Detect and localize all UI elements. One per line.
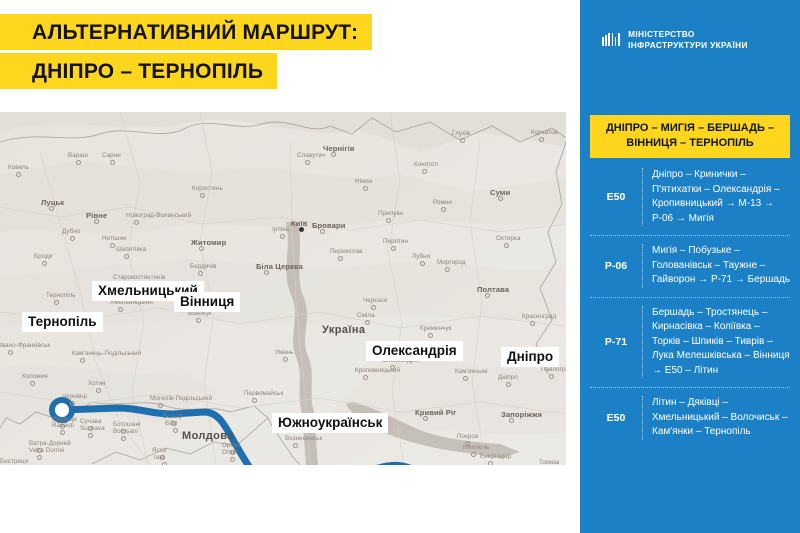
map-city-dot-icon [463, 376, 468, 381]
map-city-dot-icon [110, 243, 115, 248]
map-label: Orhei [222, 449, 238, 456]
map-label: Красноград [522, 313, 556, 320]
map-label: Покров [457, 433, 478, 440]
map-label: Вараш [68, 152, 88, 159]
map-city-dot-icon [485, 293, 490, 298]
map-city-dot-icon [549, 374, 554, 379]
route-code: E50 [590, 191, 642, 203]
map-label: Старокостянтинів [113, 274, 165, 281]
map-city-dot-icon [118, 307, 123, 312]
bars-logo-icon [602, 33, 621, 46]
map-city-dot-icon [88, 433, 93, 438]
map-city-dot-icon [264, 270, 269, 275]
map-city-dot-icon [305, 160, 310, 165]
map-country-label: Україна [322, 324, 365, 336]
map-label: Ботошані [113, 421, 141, 428]
map-label: Коломия [22, 373, 48, 380]
map-city-dot-icon [124, 254, 129, 259]
map-city-dot-icon [94, 219, 99, 224]
map-label: Чернівці [62, 393, 87, 400]
brand-line-2: ІНФРАСТРУКТУРИ УКРАЇНИ [628, 40, 748, 50]
map-city-dot-icon [162, 462, 167, 465]
map-city-dot-icon [509, 418, 514, 423]
map-label: Коростень [192, 185, 223, 192]
route-description: Дніпро – Кринички – П'ятихатки – Олексан… [642, 168, 790, 226]
map-label: Миргород [437, 259, 466, 266]
route-legend-table: E50Дніпро – Кринички – П'ятихатки – Олек… [590, 160, 790, 449]
map-label: Курчатов [531, 129, 558, 136]
map-city-dot-icon [422, 169, 427, 174]
map-label: Кривий Ріг [415, 408, 456, 417]
map-label: Могилів-Подільський [150, 395, 212, 402]
route-code: E50 [590, 412, 642, 424]
map-city-dot-icon [428, 333, 433, 338]
map-city-dot-icon [293, 443, 298, 448]
route-description: Літин – Дяківці – Хмельницький – Волочис… [642, 396, 790, 440]
map-label: Ватра-Дорней [29, 440, 71, 447]
map-city-dot-icon [299, 227, 304, 232]
map-city-dot-icon [283, 357, 288, 362]
map-label: Біла Церква [256, 262, 303, 271]
map-label: Кам'янське [455, 368, 488, 375]
map-city-dot-icon [420, 261, 425, 266]
map-city-dot-icon [390, 365, 395, 370]
map-label: Бєльці [163, 413, 183, 420]
map-city-dot-icon [76, 160, 81, 165]
map-city-dot-icon [230, 457, 235, 462]
map-label: Ковель [8, 164, 29, 171]
map-label: Лубни [412, 253, 430, 260]
map-route-city-label[interactable]: Вінниця [174, 292, 240, 312]
map-label: Енергодар [480, 453, 511, 460]
map-label: Прилуки [378, 210, 403, 217]
ministry-logo-text: МІНІСТЕРСТВО ІНФРАСТРУКТУРИ УКРАЇНИ [628, 29, 748, 50]
map-city-dot-icon [371, 305, 376, 310]
map-city-dot-icon [121, 436, 126, 441]
map-route-city-label[interactable]: Олександрія [366, 341, 463, 361]
map-label: Павлоград [541, 366, 566, 373]
map-label: Полтава [477, 285, 509, 294]
map-city-dot-icon [196, 318, 201, 323]
map-city-dot-icon [110, 160, 115, 165]
map-city-dot-icon [198, 271, 203, 276]
map-city-dot-icon [539, 137, 544, 142]
map-label: Глухів [452, 130, 470, 137]
map-label: Ромни [433, 199, 452, 206]
map-label: Пирятин [383, 238, 408, 245]
brand-line-1: МІНІСТЕРСТВО [628, 29, 695, 39]
map-city-dot-icon [441, 207, 446, 212]
map-label: Rădăuți [52, 422, 74, 429]
map-label: Сарни [102, 152, 121, 159]
map-label: Bălți [165, 420, 178, 427]
map-city-dot-icon [252, 398, 257, 403]
map-label: Житомир [191, 238, 226, 247]
map-label: Первомайськ [244, 390, 283, 397]
title-block: АЛЬТЕРНАТИВНИЙ МАРШРУТ: ДНІПРО – ТЕРНОПІ… [0, 14, 372, 89]
map-label: Вознесенськ [285, 435, 322, 442]
map-label: Дніпро [498, 374, 518, 381]
map-city-dot-icon [498, 196, 503, 201]
map-city-dot-icon [460, 138, 465, 143]
route-code: Р-71 [590, 336, 642, 348]
map-city-dot-icon [16, 172, 21, 177]
route-row: Р-06Мигія – Побузьке – Голованівськ – Та… [590, 235, 790, 297]
map-label: Сучава [80, 418, 102, 425]
map-city-dot-icon [158, 403, 163, 408]
map-city-dot-icon [386, 218, 391, 223]
map-city-dot-icon [134, 220, 139, 225]
map-label: Ніжин [355, 178, 372, 185]
map-city-dot-icon [60, 430, 65, 435]
map-city-dot-icon [80, 358, 85, 363]
map-canvas[interactable]: КовельВарашСарниЛуцькРівнеДубноНетішинШе… [0, 112, 566, 465]
map-city-dot-icon [363, 186, 368, 191]
map-city-dot-icon [488, 461, 493, 465]
map-label: Бистриця [0, 458, 28, 465]
map-label: Сміла [357, 312, 375, 319]
map-city-dot-icon [173, 428, 178, 433]
route-header-banner: ДНІПРО – МИГІЯ – БЕРШАДЬ – ВІННИЦЯ – ТЕР… [590, 115, 790, 158]
map-city-dot-icon [320, 229, 325, 234]
map-label: Новоград-Волинський [126, 212, 191, 219]
map-label: Чернігів [323, 144, 355, 153]
map-city-dot-icon [471, 452, 476, 457]
map-city-dot-icon [70, 401, 75, 406]
map-label: Івано-Франківськ [0, 342, 50, 349]
ministry-logo: МІНІСТЕРСТВО ІНФРАСТРУКТУРИ УКРАЇНИ [602, 29, 748, 50]
map-city-dot-icon [504, 243, 509, 248]
map-label: Шепетівка [116, 246, 146, 253]
map-city-dot-icon [391, 246, 396, 251]
map-route-city-label[interactable]: Дніпро [501, 347, 559, 367]
map-label: Нетішин [102, 235, 126, 242]
map-label: Бердичів [190, 263, 217, 270]
route-description: Мигія – Побузьке – Голованівськ – Таужне… [642, 244, 790, 288]
map-city-dot-icon [54, 300, 59, 305]
map-city-dot-icon [331, 152, 336, 157]
map-label: Токмак [539, 459, 559, 465]
map-label: Охтирка [496, 235, 520, 242]
map-city-dot-icon [70, 236, 75, 241]
map-city-dot-icon [199, 246, 204, 251]
map-label: Черкаси [363, 297, 388, 304]
route-row: E50Дніпро – Кринички – П'ятихатки – Олек… [590, 160, 790, 235]
map-label: Конотоп [414, 161, 438, 168]
map-city-dot-icon [37, 455, 42, 460]
map-label: Дубно [62, 228, 80, 235]
map-label: Кременчук [420, 325, 452, 332]
map-label: Botoșani [113, 428, 138, 435]
map-label: Нікополь [463, 444, 489, 451]
map-label: Тернопіль [46, 292, 76, 299]
map-route-city-label[interactable]: Тернопіль [22, 312, 103, 332]
map-label: Бровари [312, 221, 346, 230]
map-city-dot-icon [338, 256, 343, 261]
map-city-dot-icon [280, 234, 285, 239]
map-city-dot-icon [200, 193, 205, 198]
map-country-label: Молдова [182, 430, 234, 442]
map-city-dot-icon [96, 388, 101, 393]
map-city-dot-icon [365, 320, 370, 325]
map-label: Броди [34, 253, 52, 260]
map-label: Орхей [222, 442, 241, 449]
title-line-1: АЛЬТЕРНАТИВНИЙ МАРШРУТ: [0, 14, 372, 50]
map-label: Славутич [297, 152, 325, 159]
map-route-city-label[interactable]: Южноукраїнськ [272, 413, 388, 433]
map-city-dot-icon [423, 416, 428, 421]
map-label: Vatra Dornei [29, 447, 64, 454]
map-city-dot-icon [8, 350, 13, 355]
info-side-panel: МІНІСТЕРСТВО ІНФРАСТРУКТУРИ УКРАЇНИ ДНІП… [580, 0, 800, 533]
map-label: Iași [154, 454, 164, 461]
map-label: Хотин [88, 380, 106, 387]
map-label: Кам'янець-Подільський [72, 350, 141, 357]
map-city-dot-icon [445, 267, 450, 272]
map-label: Ясси [152, 447, 167, 454]
map-city-dot-icon [42, 261, 47, 266]
map-label: Переяслав [330, 248, 362, 255]
map-city-dot-icon [506, 382, 511, 387]
route-code: Р-06 [590, 260, 642, 272]
map-city-dot-icon [363, 375, 368, 380]
map-label: Ірпінь [272, 226, 289, 233]
map-city-dot-icon [30, 381, 35, 386]
map-label: Запоріжжя [501, 410, 542, 419]
route-row: E50Літин – Дяківці – Хмельницький – Воло… [590, 387, 790, 449]
map-city-dot-icon [530, 321, 535, 326]
title-line-2: ДНІПРО – ТЕРНОПІЛЬ [0, 53, 277, 89]
map-label: Умань [275, 349, 294, 356]
map-city-dot-icon [49, 206, 54, 211]
route-description: Бершадь – Тростянець – Кирнасівка – Колі… [642, 306, 790, 379]
route-row: Р-71Бершадь – Тростянець – Кирнасівка – … [590, 297, 790, 388]
map-label: Suceava [80, 425, 105, 432]
